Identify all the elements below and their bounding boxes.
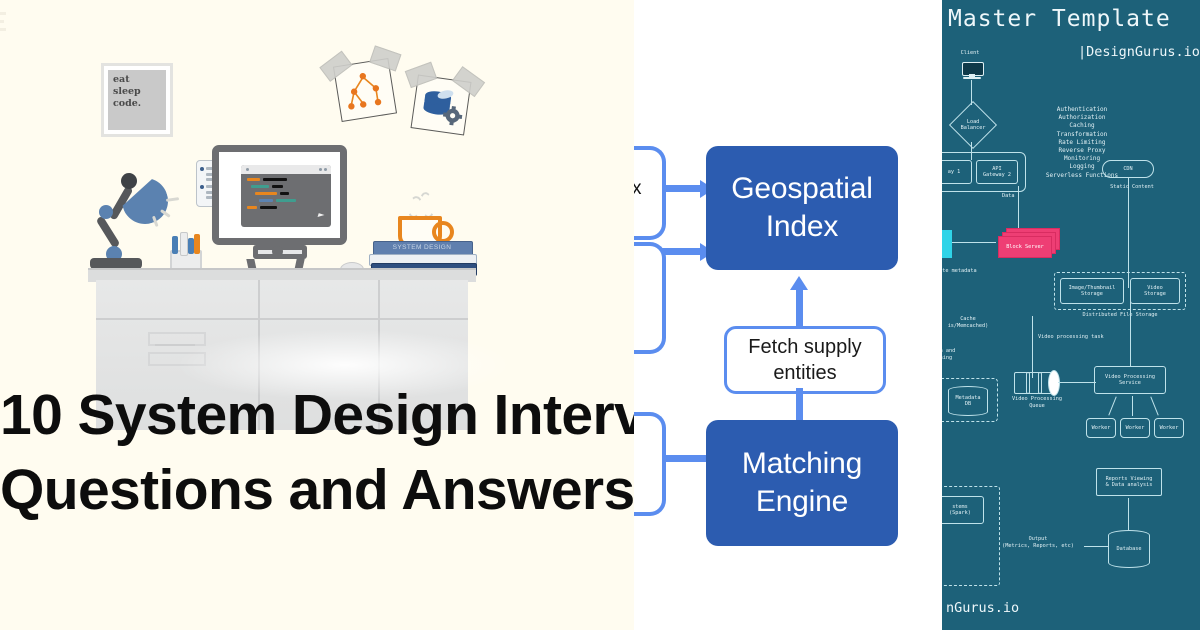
monitor-power-button: [272, 246, 283, 257]
client-base: [963, 77, 981, 79]
brand-watermark: |DesignGurus.io: [1078, 44, 1200, 60]
edge-label-static-content: Static Content: [1097, 184, 1167, 191]
edge-label-replication-partitioning: cation and titioning: [942, 348, 1004, 361]
middle-panel-flow-diagram: x Geospatial Index Fetch supply entities…: [634, 0, 942, 630]
node-worker-3[interactable]: Worker: [1154, 418, 1184, 438]
headline-line-1: 10 System Design Interv: [0, 378, 634, 453]
edge-video-task: [1032, 316, 1033, 378]
edge-fetch-to-index: [796, 288, 803, 328]
mouse-cursor-icon: [318, 213, 325, 219]
edge-storage-to-service: [1130, 300, 1131, 366]
node-label: Image/Thumbnail Storage: [1069, 285, 1116, 298]
node-video-processing-service[interactable]: Video Processing Service: [1094, 366, 1166, 394]
node-video-processing-queue-label: Video Processing Queue: [1002, 396, 1072, 409]
node-database[interactable]: Database: [1108, 530, 1150, 568]
book-label: SYSTEM DESIGN: [386, 244, 458, 251]
node-label: Worker: [1160, 425, 1179, 431]
node-label: Video Processing Service: [1105, 374, 1155, 387]
node-label: stems (Spark): [949, 504, 971, 517]
node-label: Worker: [1092, 425, 1111, 431]
edge-service-worker: [1132, 396, 1133, 416]
node-metadata-db[interactable]: Metadata DB: [948, 386, 988, 416]
sticky-note-tree: [333, 58, 397, 122]
edge-service-worker: [1108, 397, 1116, 416]
node-label: Matching Engine: [706, 445, 898, 521]
left-panel-article-cover: eat sleep code.: [0, 0, 634, 630]
edge-to-geospatial-index: [662, 185, 702, 192]
edge-to-matching-engine: [662, 455, 710, 462]
pen-icon: [194, 234, 200, 254]
queue-head-marker: [1048, 370, 1060, 396]
lamp-arm: [96, 215, 121, 248]
node-label: Fetch supply entities: [727, 334, 883, 386]
lamp-cap: [121, 173, 137, 189]
edge-queue-to-service: [1058, 382, 1096, 383]
window-titlebar: [241, 165, 331, 174]
node-cdn[interactable]: CDN: [1102, 160, 1154, 178]
node-label: CDN: [1123, 166, 1132, 172]
node-geospatial-index[interactable]: Geospatial Index: [706, 146, 898, 270]
poster-text: eat sleep code.: [113, 74, 141, 110]
edge-label-cache: Cache is/Memcached): [942, 316, 1008, 329]
node-worker-2[interactable]: Worker: [1120, 418, 1150, 438]
edge-label-read-write-metadata: rite metadata: [942, 268, 1016, 275]
node-label: Metadata DB: [956, 395, 981, 408]
clipped-node-lower: [634, 412, 666, 516]
node-label: Reports Viewing & Data analysis: [1106, 476, 1153, 489]
node-label: Database: [1117, 546, 1142, 552]
clipped-node-middle: [634, 242, 666, 354]
node-image-thumbnail-storage[interactable]: Image/Thumbnail Storage: [1060, 278, 1124, 304]
code-editor-screen: [241, 165, 331, 227]
collage-canvas: eat sleep code.: [0, 0, 1200, 630]
page-title: 10 System Design Interv Questions and An…: [0, 378, 634, 528]
sparkle-icon: [0, 12, 8, 36]
node-label: Video Storage: [1144, 285, 1166, 298]
pen-icon: [172, 236, 178, 254]
node-reports-viewing[interactable]: Reports Viewing & Data analysis: [1096, 468, 1162, 496]
pen-icon: [180, 232, 188, 256]
edge-label-video-processing-task: Video processing task: [1038, 334, 1148, 341]
edge-label-data: Data: [1002, 193, 1032, 200]
database-gear-icon: [412, 76, 471, 135]
steam-icon: [418, 191, 436, 219]
arrow-head-icon: [790, 276, 808, 290]
footer-watermark: nGurus.io: [946, 600, 1019, 616]
coffee-cup-handle: [432, 221, 454, 243]
edge-block-to-service: [952, 242, 996, 243]
desk-edge: [96, 318, 468, 320]
edge-label-distributed-file-storage: Distributed File Storage: [1054, 312, 1186, 319]
node-client-label: Client: [950, 50, 990, 57]
computer-monitor: [212, 145, 347, 245]
node-matching-engine[interactable]: Matching Engine: [706, 420, 898, 546]
lamp-joint: [99, 205, 113, 219]
node-fetch-supply-entities[interactable]: Fetch supply entities: [724, 326, 886, 394]
tree-diagram-icon: [334, 59, 396, 121]
node-label: Geospatial Index: [706, 170, 898, 246]
headline-line-2: Questions and Answers: [0, 453, 634, 528]
light-ray-icon: [166, 197, 179, 201]
node-block-server[interactable]: Block Server: [998, 236, 1052, 258]
edge-to-geospatial-index: [662, 248, 702, 255]
edge-service-worker: [1150, 397, 1158, 416]
node-label: Worker: [1126, 425, 1145, 431]
node-worker-1[interactable]: Worker: [1086, 418, 1116, 438]
diagram-title: Master Template: [948, 6, 1171, 32]
node-label: Load Balancer: [961, 119, 986, 132]
right-panel-architecture-diagram: Master Template |DesignGurus.io nGurus.i…: [942, 0, 1200, 630]
sticky-note-database: [411, 75, 472, 136]
edge-label-output: Output (Metrics, Reports, etc): [990, 536, 1086, 549]
edge-gateway-to-block: [1018, 186, 1019, 232]
edge-matching-to-fetch: [796, 388, 803, 422]
edge-db-to-reports: [1128, 498, 1129, 530]
node-video-storage[interactable]: Video Storage: [1130, 278, 1180, 304]
clipped-service-bar: [942, 230, 952, 258]
node-load-balancer[interactable]: Load Balancer: [949, 101, 997, 149]
edge-output-to-db: [1084, 546, 1108, 547]
node-label: Block Server: [1006, 244, 1043, 250]
node-analytics-systems[interactable]: stems (Spark): [942, 496, 984, 524]
clipped-node-label: x: [634, 178, 642, 200]
wall-poster: eat sleep code.: [101, 63, 173, 137]
